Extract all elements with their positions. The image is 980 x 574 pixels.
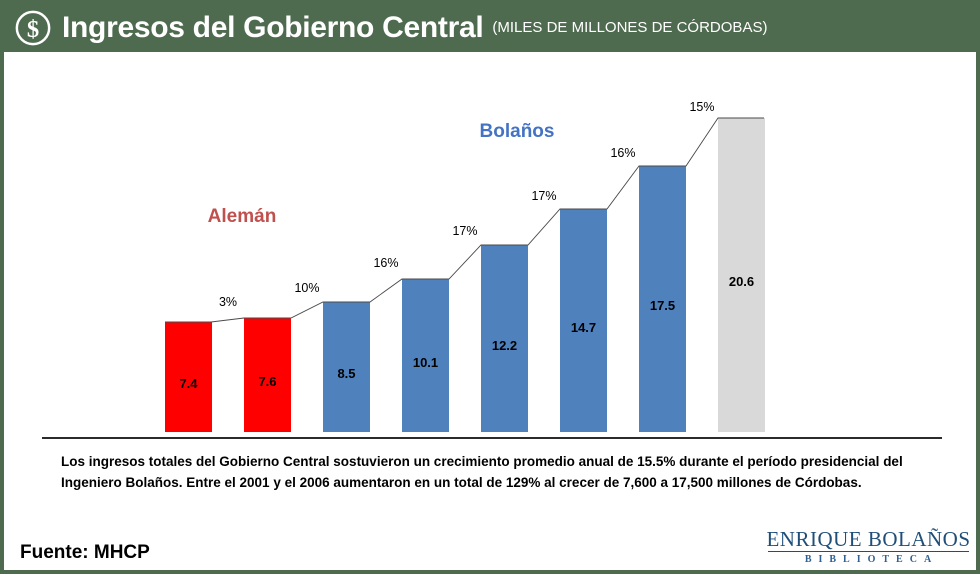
- growth-label-2002: 10%: [294, 281, 319, 295]
- value-label-2000: 7.4: [179, 376, 198, 391]
- value-label-2007: 20.6: [729, 274, 754, 289]
- chart-canvas: 3% 10% 16% 17% 17% 16% 15% 7.4 7.6 8.5 1…: [4, 52, 976, 432]
- value-label-2004: 12.2: [492, 338, 517, 353]
- slide-header: $ Ingresos del Gobierno Central (MILES D…: [4, 4, 980, 52]
- growth-label-2003: 16%: [373, 256, 398, 270]
- chart-bars: [165, 118, 765, 432]
- biblioteca-logo: ENRIQUE BOLAÑOS BIBLIOTECA: [766, 528, 971, 565]
- slide-root: $ Ingresos del Gobierno Central (MILES D…: [0, 0, 980, 574]
- growth-label-2005: 17%: [531, 189, 556, 203]
- value-label-2001: 7.6: [258, 374, 276, 389]
- page-subtitle: (MILES DE MILLONES DE CÓRDOBAS): [492, 19, 767, 38]
- bar-chart: 3% 10% 16% 17% 17% 16% 15% 7.4 7.6 8.5 1…: [4, 52, 976, 432]
- logo-subtitle: BIBLIOTECA: [766, 554, 971, 565]
- logo-name: ENRIQUE BOLAÑOS: [766, 528, 971, 550]
- growth-label-2004: 17%: [452, 224, 477, 238]
- dollar-circle-icon: $: [14, 9, 52, 47]
- growth-label-2007: 15%: [689, 100, 714, 114]
- value-label-2002: 8.5: [337, 366, 355, 381]
- value-label-2005: 14.7: [571, 320, 596, 335]
- page-title: Ingresos del Gobierno Central: [62, 13, 483, 43]
- svg-text:$: $: [27, 16, 39, 43]
- annotation-aleman: Alemán: [208, 206, 277, 227]
- annotation-bolanos: Bolaños: [480, 121, 555, 142]
- summary-paragraph: Los ingresos totales del Gobierno Centra…: [61, 452, 929, 494]
- growth-label-2001: 3%: [219, 295, 237, 309]
- growth-label-2006: 16%: [610, 146, 635, 160]
- value-label-2003: 10.1: [413, 355, 438, 370]
- source-note: Fuente: MHCP: [20, 542, 150, 564]
- section-divider: [42, 437, 942, 439]
- logo-divider: [768, 551, 969, 552]
- value-label-2006: 17.5: [650, 298, 675, 313]
